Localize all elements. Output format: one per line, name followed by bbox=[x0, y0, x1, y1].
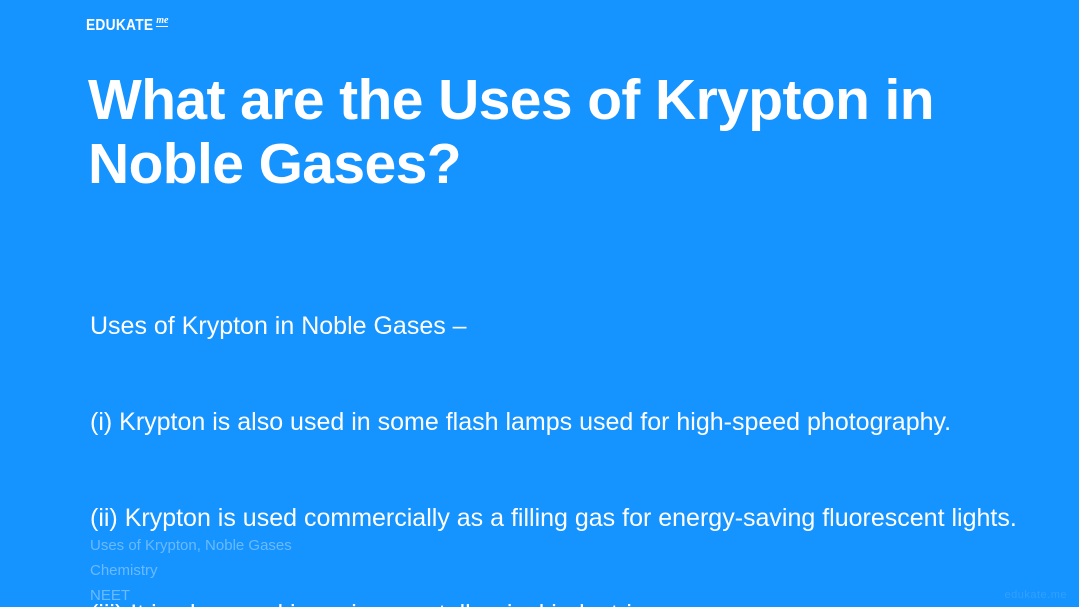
body-line: (ii) Krypton is used commercially as a f… bbox=[90, 502, 1020, 534]
body-line: Uses of Krypton in Noble Gases – bbox=[90, 310, 1020, 342]
footer-tag: NEET bbox=[90, 583, 292, 607]
footer-tag: Uses of Krypton, Noble Gases bbox=[90, 533, 292, 558]
brand-suffix: me bbox=[156, 16, 168, 27]
slide-canvas: EDUKATE me What are the Uses of Krypton … bbox=[0, 0, 1079, 607]
corner-watermark: edukate.me bbox=[1005, 589, 1067, 601]
body-line: (i) Krypton is also used in some flash l… bbox=[90, 406, 1020, 438]
footer-tags: Uses of Krypton, Noble Gases Chemistry N… bbox=[90, 533, 292, 607]
brand-logo: EDUKATE me bbox=[86, 18, 168, 34]
page-title: What are the Uses of Krypton in Noble Ga… bbox=[88, 68, 988, 196]
footer-tag: Chemistry bbox=[90, 558, 292, 583]
brand-name: EDUKATE bbox=[86, 18, 153, 34]
